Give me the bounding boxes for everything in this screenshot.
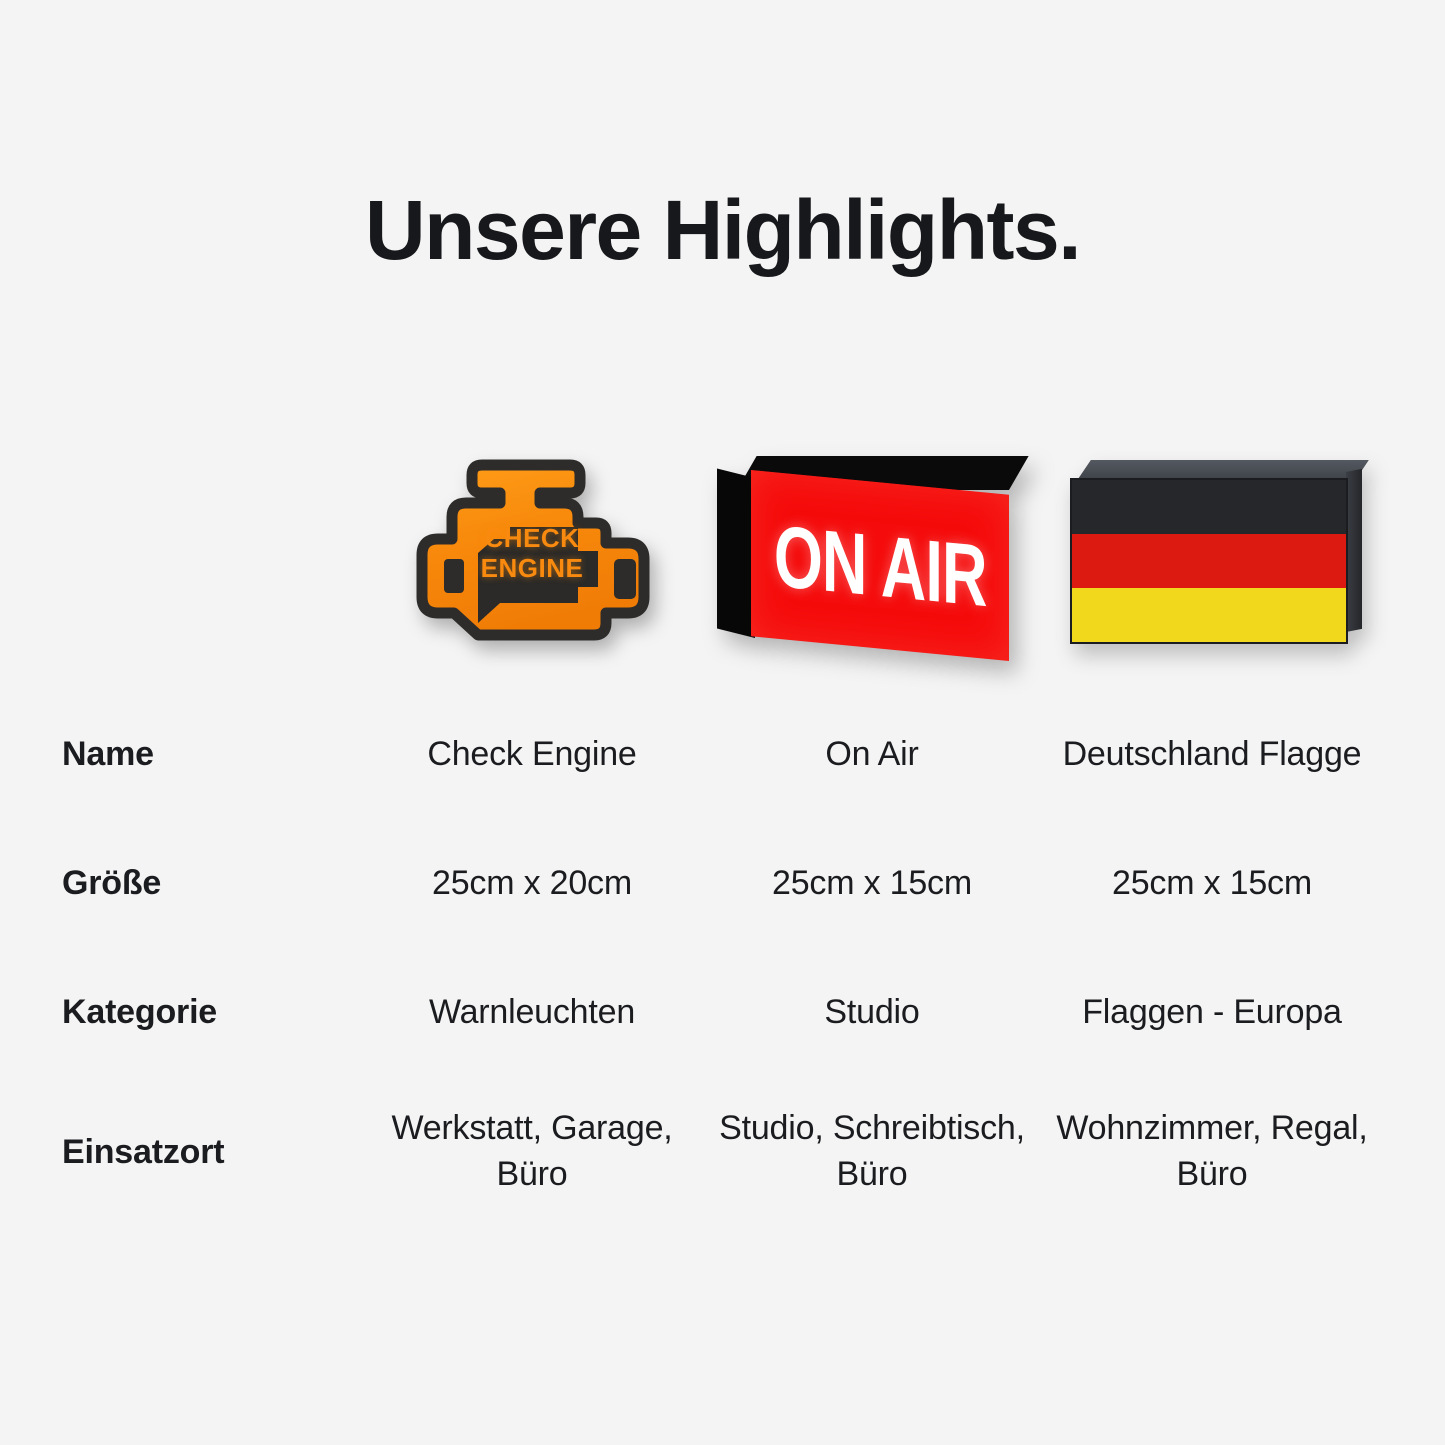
table-row: Kategorie Warnleuchten Studio Flaggen - …: [62, 948, 1382, 1077]
check-engine-lamp-icon: CHECK ENGINE: [382, 447, 682, 662]
row-label-groesse: Größe: [62, 819, 362, 948]
cell-name-deutschland-flagge: Deutschland Flagge: [1042, 690, 1382, 819]
cell-kategorie-check-engine: Warnleuchten: [362, 948, 702, 1077]
germany-flag-lightbox-icon: [1062, 460, 1362, 656]
row-label-name: Name: [62, 690, 362, 819]
table-row: Einsatzort Werkstatt, Garage, Büro Studi…: [62, 1077, 1382, 1227]
flag-band-yellow: [1072, 588, 1346, 642]
product-image-deutschland-flagge[interactable]: [1042, 410, 1382, 670]
product-image-row: CHECK ENGINE ON AIR: [62, 410, 1382, 670]
cell-groesse-deutschland-flagge: 25cm x 15cm: [1042, 819, 1382, 948]
cell-groesse-check-engine: 25cm x 20cm: [362, 819, 702, 948]
flag-band-black: [1072, 480, 1346, 534]
on-air-box-front-face: ON AIR: [751, 470, 1009, 661]
flag-box-side-face: [1346, 469, 1362, 632]
engine-shape-svg: [382, 447, 682, 662]
flag-box-front-face: [1070, 478, 1348, 644]
on-air-box-side-face: [717, 469, 755, 638]
highlights-page: Unsere Highlights.: [0, 0, 1445, 1445]
cell-einsatzort-check-engine: Werkstatt, Garage, Büro: [362, 1077, 702, 1227]
spec-comparison-table: Name Check Engine On Air Deutschland Fla…: [62, 690, 1382, 1227]
product-image-on-air[interactable]: ON AIR: [702, 410, 1042, 670]
product-image-check-engine[interactable]: CHECK ENGINE: [362, 410, 702, 670]
cell-name-check-engine: Check Engine: [362, 690, 702, 819]
flag-band-red: [1072, 534, 1346, 588]
cell-groesse-on-air: 25cm x 15cm: [702, 819, 1042, 948]
cell-einsatzort-on-air: Studio, Schreibtisch, Büro: [702, 1077, 1042, 1227]
on-air-lightbox-icon: ON AIR: [717, 456, 1027, 656]
cell-einsatzort-deutschland-flagge: Wohnzimmer, Regal, Büro: [1042, 1077, 1382, 1227]
label-column-spacer: [62, 410, 362, 670]
page-title: Unsere Highlights.: [0, 184, 1445, 276]
cell-kategorie-on-air: Studio: [702, 948, 1042, 1077]
cell-kategorie-deutschland-flagge: Flaggen - Europa: [1042, 948, 1382, 1077]
table-row: Name Check Engine On Air Deutschland Fla…: [62, 690, 1382, 819]
table-row: Größe 25cm x 20cm 25cm x 15cm 25cm x 15c…: [62, 819, 1382, 948]
cell-name-on-air: On Air: [702, 690, 1042, 819]
on-air-text: ON AIR: [774, 505, 987, 625]
row-label-einsatzort: Einsatzort: [62, 1077, 362, 1227]
row-label-kategorie: Kategorie: [62, 948, 362, 1077]
